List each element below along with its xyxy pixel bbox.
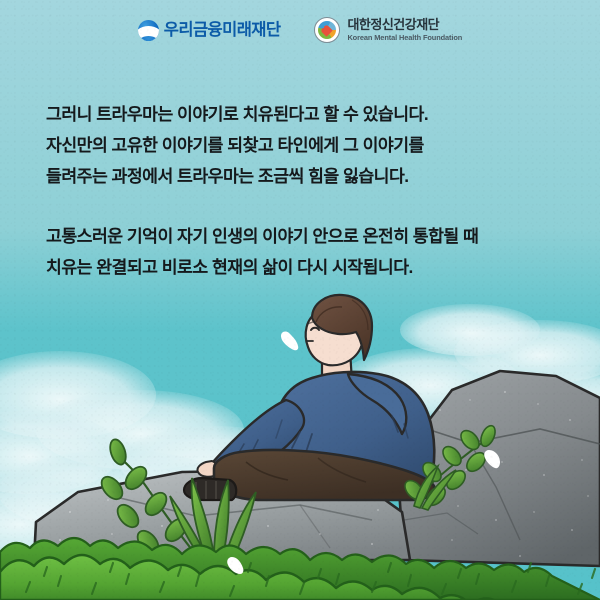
kmhf-emblem-inner: [318, 21, 336, 39]
kmhf-name-english: Korean Mental Health Foundation: [347, 34, 462, 41]
kmhf-emblem-icon: [314, 17, 340, 43]
woori-wave-circle-icon: [138, 20, 159, 41]
paragraph-2: 고통스러운 기억이 자기 인생의 이야기 안으로 온전히 통합될 때 치유는 완…: [46, 221, 566, 283]
woori-foundation-logo: 우리금융미래재단: [138, 20, 281, 41]
kmhf-logo: 대한정신건강재단 Korean Mental Health Foundation: [314, 17, 462, 43]
woori-foundation-name: 우리금융미래재단: [164, 22, 281, 39]
message-copy-block: 그러니 트라우마는 이야기로 치유된다고 할 수 있습니다. 자신만의 고유한 …: [46, 82, 566, 300]
kmhf-name-korean: 대한정신건강재단: [347, 18, 462, 31]
kmhf-text-block: 대한정신건강재단 Korean Mental Health Foundation: [347, 18, 462, 41]
paragraph-1: 그러니 트라우마는 이야기로 치유된다고 할 수 있습니다. 자신만의 고유한 …: [46, 99, 566, 192]
logo-bar: 우리금융미래재단 대한정신건강재단 Korean Mental Health F…: [0, 11, 600, 49]
info-card: 우리금융미래재단 대한정신건강재단 Korean Mental Health F…: [0, 0, 600, 600]
